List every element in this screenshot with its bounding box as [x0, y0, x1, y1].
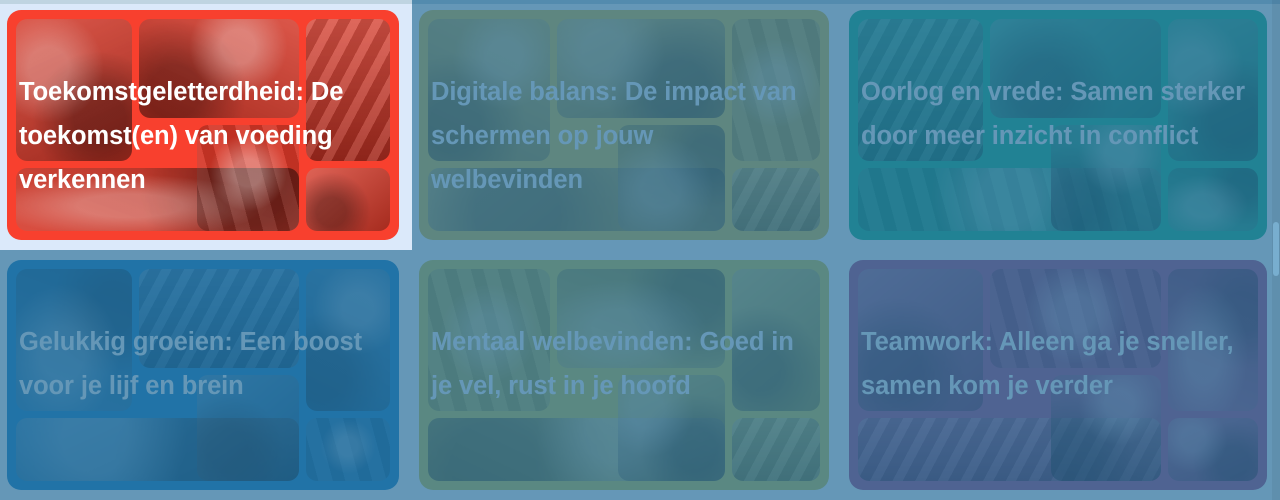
- card-slot-gelukkig-groeien: Gelukkig groeien: Een boost voor je lijf…: [0, 250, 412, 500]
- mosaic-tile-6: [306, 418, 390, 481]
- card-slot-mentaal-welbevinden: Mentaal welbevinden: Goed in je vel, rus…: [412, 250, 842, 500]
- mosaic-tile-6: [732, 418, 820, 481]
- theme-card-gelukkig-groeien[interactable]: Gelukkig groeien: Een boost voor je lijf…: [7, 260, 399, 490]
- card-title-text: Toekomstgeletterdheid: De toekomst(en) v…: [19, 78, 343, 194]
- mosaic-tile-6: [1168, 418, 1258, 481]
- card-title: Gelukkig groeien: Een boost voor je lijf…: [19, 276, 377, 408]
- theme-card-oorlog-en-vrede[interactable]: Oorlog en vrede: Samen sterker door meer…: [849, 10, 1267, 240]
- theme-card-toekomstgeletterdheid[interactable]: Toekomstgeletterdheid: De toekomst(en) v…: [7, 10, 399, 240]
- card-title: Teamwork: Alleen ga je sneller, samen ko…: [861, 276, 1245, 408]
- theme-card-mentaal-welbevinden[interactable]: Mentaal welbevinden: Goed in je vel, rus…: [419, 260, 829, 490]
- card-title-text: Oorlog en vrede: Samen sterker door meer…: [861, 78, 1245, 150]
- card-slot-digitale-balans: Digitale balans: De impact van schermen …: [412, 0, 842, 250]
- card-title: Mentaal welbevinden: Goed in je vel, rus…: [431, 276, 807, 408]
- spotlight-card-host[interactable]: Toekomstgeletterdheid: De toekomst(en) v…: [0, 0, 412, 250]
- card-title: Oorlog en vrede: Samen sterker door meer…: [861, 26, 1245, 158]
- card-title-text: Gelukkig groeien: Een boost voor je lijf…: [19, 328, 362, 400]
- card-slot-oorlog-en-vrede: Oorlog en vrede: Samen sterker door meer…: [842, 0, 1280, 250]
- card-title-text: Teamwork: Alleen ga je sneller, samen ko…: [861, 328, 1233, 400]
- theme-card-teamwork[interactable]: Teamwork: Alleen ga je sneller, samen ko…: [849, 260, 1267, 490]
- mosaic-tile-6: [1168, 168, 1258, 231]
- vertical-scrollbar-thumb[interactable]: [1273, 222, 1279, 276]
- card-slot-toekomstgeletterdheid: Toekomstgeletterdheid: De toekomst(en) v…: [0, 0, 412, 250]
- card-slot-teamwork: Teamwork: Alleen ga je sneller, samen ko…: [842, 250, 1280, 500]
- card-title: Toekomstgeletterdheid: De toekomst(en) v…: [19, 26, 377, 202]
- card-title-text: Mentaal welbevinden: Goed in je vel, rus…: [431, 328, 794, 400]
- theme-card-digitale-balans[interactable]: Digitale balans: De impact van schermen …: [419, 10, 829, 240]
- card-title-text: Digitale balans: De impact van schermen …: [431, 78, 796, 194]
- card-title: Digitale balans: De impact van schermen …: [431, 26, 807, 202]
